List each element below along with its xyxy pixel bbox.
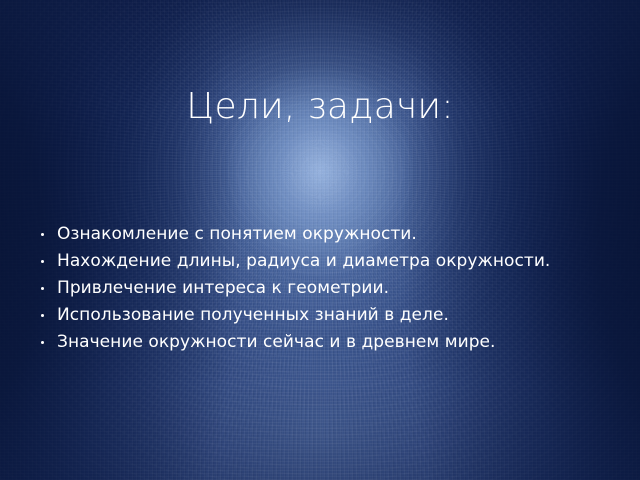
bullet-item-5: Значение окружности сейчас и в древнем м… <box>38 329 610 356</box>
bullet-text-3: Привлечение интереса к геометрии. <box>57 275 610 302</box>
slide-content: Цели, задачи: Ознакомление с понятием ок… <box>0 0 640 480</box>
slide-title: Цели, задачи: <box>0 86 640 128</box>
bullet-dot-icon <box>41 260 44 263</box>
bullet-dot-icon <box>41 233 44 236</box>
bullet-dot-icon <box>41 341 44 344</box>
bullet-text-1: Ознакомление с понятием окружности. <box>57 221 610 248</box>
bullet-text-2: Нахождение длины, радиуса и диаметра окр… <box>57 248 557 275</box>
bullet-item-3: Привлечение интереса к геометрии. <box>38 275 610 302</box>
bullet-item-1: Ознакомление с понятием окружности. <box>38 221 610 248</box>
bullet-item-2: Нахождение длины, радиуса и диаметра окр… <box>38 248 610 275</box>
bullet-dot-icon <box>41 287 44 290</box>
bullet-list: Ознакомление с понятием окружности. Нахо… <box>38 221 610 356</box>
bullet-text-5: Значение окружности сейчас и в древнем м… <box>57 329 610 356</box>
bullet-text-4: Использование полученных знаний в деле. <box>57 302 610 329</box>
bullet-item-4: Использование полученных знаний в деле. <box>38 302 610 329</box>
bullet-dot-icon <box>41 314 44 317</box>
presentation-slide: Цели, задачи: Ознакомление с понятием ок… <box>0 0 640 480</box>
